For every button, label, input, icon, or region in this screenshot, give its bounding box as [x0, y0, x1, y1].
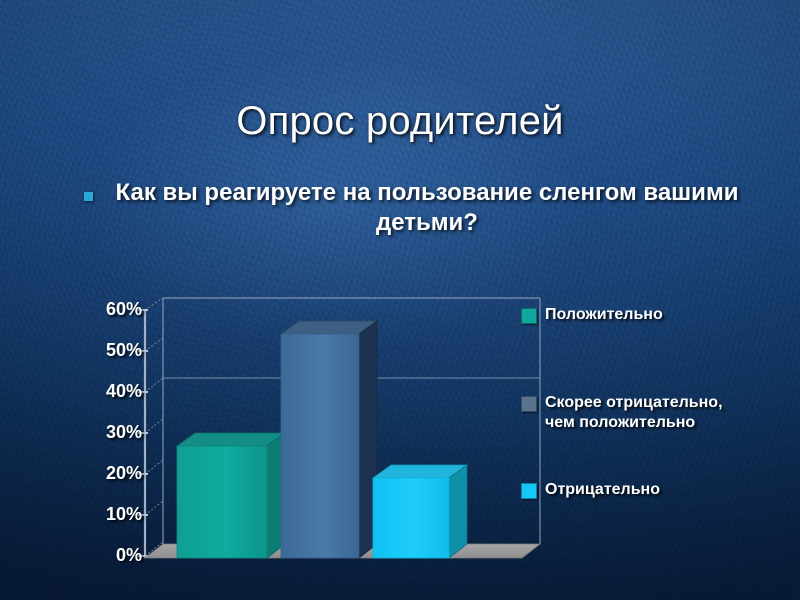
slide-background: Опрос родителей Как вы реагируете на пол…	[0, 0, 800, 600]
legend-item-rather-negative[interactable]: Скорее отрицательно, чем положительно	[521, 393, 736, 433]
y-tick-50: 50%	[68, 340, 142, 361]
legend-label-negative: Отрицательно	[545, 480, 660, 500]
subtitle-block: Как вы реагируете на пользование сленгом…	[84, 178, 748, 238]
bar-series-rather-negative[interactable]	[281, 321, 377, 558]
axis-depth-ticks	[145, 298, 163, 556]
y-tick-30: 30%	[68, 422, 142, 443]
y-tick-40: 40%	[68, 381, 142, 402]
legend-item-positive[interactable]: Положительно	[521, 305, 663, 325]
y-tick-20: 20%	[68, 463, 142, 484]
bar-series-negative[interactable]	[373, 465, 467, 558]
legend-item-negative[interactable]: Отрицательно	[521, 480, 660, 500]
bar-chart: 60% 50% 40% 30% 20% 10% 0% Положительно …	[0, 0, 800, 600]
legend-swatch-rather-negative	[521, 396, 537, 412]
legend-label-rather-negative: Скорее отрицательно, чем положительно	[545, 393, 736, 433]
y-tick-60: 60%	[68, 299, 142, 320]
y-axis-labels: 60% 50% 40% 30% 20% 10% 0%	[68, 0, 142, 600]
square-bullet-icon	[84, 192, 93, 201]
legend-swatch-positive	[521, 308, 537, 324]
legend-swatch-negative	[521, 483, 537, 499]
y-tick-10: 10%	[68, 504, 142, 525]
page-title: Опрос родителей	[0, 99, 800, 144]
bar-series-positive[interactable]	[177, 433, 285, 558]
subtitle-text: Как вы реагируете на пользование сленгом…	[106, 178, 748, 238]
legend-label-positive: Положительно	[545, 305, 663, 325]
y-tick-0: 0%	[68, 545, 142, 566]
